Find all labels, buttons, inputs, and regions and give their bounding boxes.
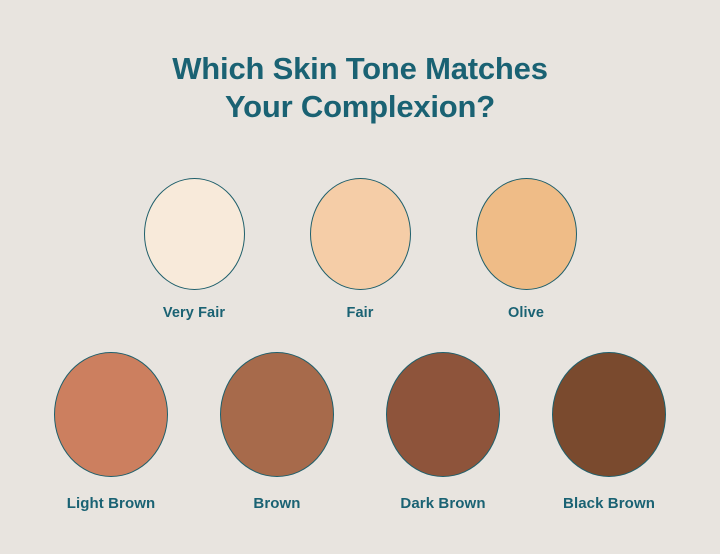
- swatch-row-deep: Light Brown Brown Dark Brown Black Brown: [0, 352, 720, 512]
- skin-tone-infographic: Which Skin Tone Matches Your Complexion?…: [0, 0, 720, 554]
- swatch-brown[interactable]: Brown: [194, 352, 360, 512]
- swatch-label-olive: Olive: [508, 305, 544, 321]
- color-disc-olive[interactable]: [476, 178, 577, 290]
- page-title: Which Skin Tone Matches Your Complexion?: [0, 50, 720, 126]
- color-disc-brown[interactable]: [220, 352, 334, 477]
- swatch-row-light: Very Fair Fair Olive: [0, 178, 720, 321]
- color-disc-very-fair[interactable]: [144, 178, 245, 290]
- title-line-2: Your Complexion?: [0, 88, 720, 126]
- swatch-black-brown[interactable]: Black Brown: [526, 352, 692, 512]
- swatch-label-black-brown: Black Brown: [563, 495, 655, 512]
- swatch-very-fair[interactable]: Very Fair: [111, 178, 277, 321]
- swatch-label-dark-brown: Dark Brown: [400, 495, 485, 512]
- swatch-label-fair: Fair: [347, 305, 374, 321]
- swatch-label-brown: Brown: [253, 495, 300, 512]
- swatch-olive[interactable]: Olive: [443, 178, 609, 321]
- swatch-light-brown[interactable]: Light Brown: [28, 352, 194, 512]
- color-disc-black-brown[interactable]: [552, 352, 666, 477]
- swatch-label-light-brown: Light Brown: [67, 495, 156, 512]
- color-disc-light-brown[interactable]: [54, 352, 168, 477]
- swatch-fair[interactable]: Fair: [277, 178, 443, 321]
- swatch-label-very-fair: Very Fair: [163, 305, 225, 321]
- color-disc-fair[interactable]: [310, 178, 411, 290]
- swatch-dark-brown[interactable]: Dark Brown: [360, 352, 526, 512]
- color-disc-dark-brown[interactable]: [386, 352, 500, 477]
- title-line-1: Which Skin Tone Matches: [0, 50, 720, 88]
